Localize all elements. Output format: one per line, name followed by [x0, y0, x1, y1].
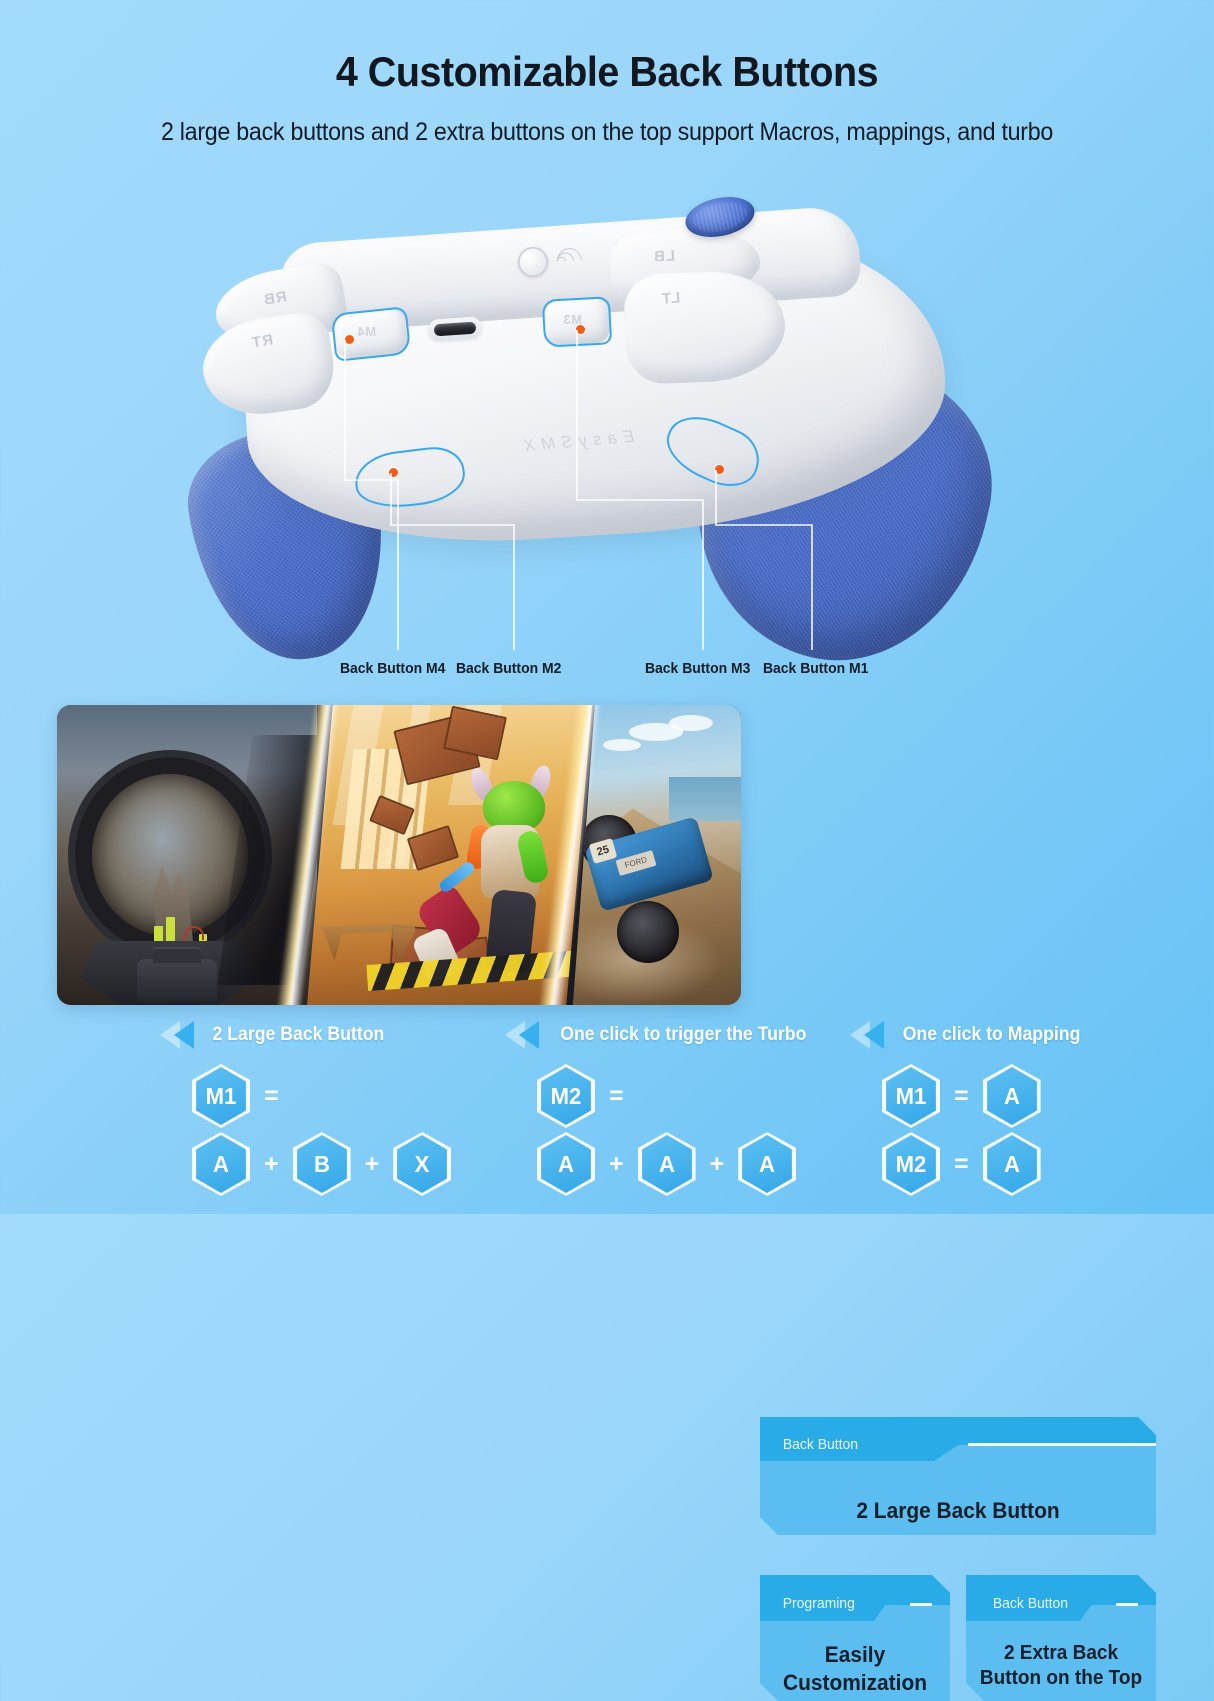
equals-sign: =	[604, 1082, 629, 1111]
equals-sign: =	[949, 1082, 974, 1111]
label-lt: LT	[660, 289, 680, 307]
plus-sign: +	[705, 1150, 730, 1179]
weapon-rail	[137, 959, 217, 1001]
hex-button: A	[192, 1132, 250, 1196]
marker-dot-m4	[345, 335, 354, 344]
card-large-back-button: Back Button 2 Large Back Button	[760, 1417, 1156, 1535]
mapping-section: 2 Large Back Button M1 = A + B + X One c…	[0, 1018, 1214, 1214]
card-body-text: 2 Extra BackButton on the Top	[971, 1641, 1152, 1691]
triangle-marker-icon	[850, 1018, 896, 1052]
gameplay-montage: 25 FORD	[57, 705, 741, 1005]
controller-image: RB RT LB LT EasySMX M4 M3	[185, 190, 1005, 640]
card-body-text: 2 Large Back Button	[770, 1497, 1146, 1525]
mapping-row-a: M1 =	[192, 1064, 284, 1128]
plus-sign: +	[360, 1150, 385, 1179]
callout-m2: Back Button M2	[456, 660, 561, 677]
truck-wheel	[617, 901, 679, 963]
label-rt: RT	[250, 331, 274, 351]
scene-racing: 25 FORD	[573, 705, 741, 1005]
triangle-marker-icon	[160, 1018, 206, 1052]
table-silhouette	[319, 917, 415, 961]
scene-fps-sniper	[57, 705, 317, 1005]
hex-button: A	[983, 1064, 1041, 1128]
mapping-row-b: A + A + A	[537, 1132, 796, 1196]
hex-button: M1	[882, 1064, 940, 1128]
hex-button: A	[983, 1132, 1041, 1196]
card-accent-line	[910, 1603, 932, 1606]
hex-button: M1	[192, 1064, 250, 1128]
callout-m1: Back Button M1	[763, 660, 868, 677]
plus-sign: +	[604, 1150, 629, 1179]
card-programing: Programing EasilyCustomization	[760, 1575, 950, 1701]
triangle-marker-icon	[505, 1018, 551, 1052]
mapping-column-header: One click to trigger the Turbo	[505, 1018, 816, 1052]
mapping-column-1: One click to trigger the Turbo M2 = A + …	[505, 1018, 845, 1214]
held-prop	[438, 860, 477, 894]
callout-m3: Back Button M3	[645, 660, 750, 677]
equals-sign: =	[949, 1150, 974, 1179]
marker-dot-m3	[576, 325, 585, 334]
hex-button: A	[738, 1132, 796, 1196]
marker-dot-m2	[389, 468, 398, 477]
cloud	[669, 715, 713, 731]
mapping-column-header: One click to Mapping	[850, 1018, 1087, 1052]
scope-target-marker	[184, 926, 204, 940]
card-accent-line	[1116, 1603, 1138, 1606]
usb-c-port	[427, 316, 482, 342]
mapping-column-header: 2 Large Back Button	[160, 1018, 391, 1052]
highlight-outline-m3	[542, 296, 612, 347]
page-title: 4 Customizable Back Buttons	[36, 48, 1177, 96]
mapping-row-a: M2 =	[537, 1064, 629, 1128]
page-header: 4 Customizable Back Buttons 2 large back…	[0, 0, 1214, 147]
card-body-text: EasilyCustomization	[765, 1641, 946, 1696]
card-accent-line	[968, 1443, 1156, 1446]
marker-dot-m1	[715, 465, 724, 474]
wireless-waves-icon	[554, 245, 590, 277]
hex-button: A	[537, 1132, 595, 1196]
mapping-row-a: M1 = A	[882, 1064, 1041, 1128]
hex-button: B	[293, 1132, 351, 1196]
hex-button: A	[638, 1132, 696, 1196]
card-extra-back-button: Back Button 2 Extra BackButton on the To…	[966, 1575, 1156, 1701]
label-lb: LB	[652, 247, 675, 265]
middle-section: 25 FORD Back Button 2 Large Back Button …	[0, 705, 1214, 1010]
mapping-column-2: One click to Mapping M1 = A M2 = A	[850, 1018, 1160, 1214]
controller-stage: RB RT LB LT EasySMX M4 M3	[0, 180, 1214, 700]
mapping-row-b: M2 = A	[882, 1132, 1041, 1196]
plus-sign: +	[259, 1150, 284, 1179]
card-title: Programing	[783, 1595, 855, 1612]
mapping-column-title: One click to Mapping	[903, 1024, 1081, 1046]
mapping-row-b: A + B + X	[192, 1132, 451, 1196]
hex-button: M2	[537, 1064, 595, 1128]
callout-labels: Back Button M4 Back Button M2 Back Butto…	[0, 660, 1214, 694]
mapping-column-title: 2 Large Back Button	[212, 1024, 384, 1046]
page-subtitle: 2 large back buttons and 2 extra buttons…	[42, 118, 1171, 147]
card-title: Back Button	[783, 1436, 858, 1453]
highlight-outline-m4	[331, 306, 412, 362]
mapping-column-0: 2 Large Back Button M1 = A + B + X	[160, 1018, 500, 1214]
mapping-column-title: One click to trigger the Turbo	[560, 1024, 806, 1046]
hex-button: M2	[882, 1132, 940, 1196]
equals-sign: =	[259, 1082, 284, 1111]
card-title: Back Button	[993, 1595, 1068, 1612]
hex-button: X	[393, 1132, 451, 1196]
callout-m4: Back Button M4	[340, 660, 445, 677]
sea	[669, 777, 741, 821]
cloud	[603, 739, 641, 751]
